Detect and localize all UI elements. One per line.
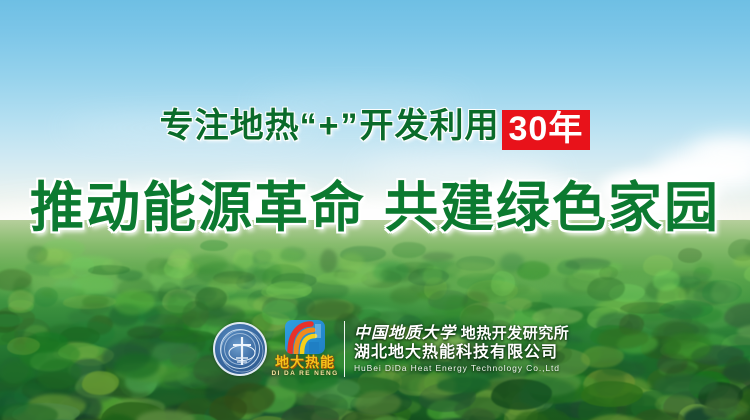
- seal-emblem-icon: [215, 324, 267, 376]
- promotional-banner: 专注地热“+”开发利用30年 推动能源革命共建绿色家园: [0, 0, 750, 420]
- company-name-block: 中国地质大学 地热开发研究所 湖北地大热能科技有限公司 HuBei DiDa H…: [354, 325, 569, 374]
- subheadline-middle: 开发利用: [360, 107, 500, 145]
- subheadline-prefix: 专注地热: [160, 107, 300, 145]
- subheadline-quote: “+”: [300, 107, 360, 145]
- dida-logo-cn: 地大热能: [275, 355, 335, 370]
- lockup-divider: [344, 321, 345, 377]
- anniversary-badge: 30年: [502, 110, 591, 150]
- institute-line: 中国地质大学 地热开发研究所: [354, 325, 569, 342]
- dida-brand-logo: 地大热能 DI DA RE NENG: [273, 320, 337, 378]
- company-name-cn: 湖北地大热能科技有限公司: [354, 345, 569, 362]
- university-seal-icon: [213, 322, 267, 376]
- main-headline-left: 推动能源革命: [30, 178, 366, 238]
- company-name-en: HuBei DiDa Heat Energy Technology Co.,Lt…: [354, 364, 569, 373]
- dida-logo-en: DI DA RE NENG: [271, 370, 338, 377]
- institute-calligraphy: 中国地质大学: [354, 323, 456, 342]
- main-headline: 推动能源革命共建绿色家园: [0, 163, 750, 242]
- subheadline: 专注地热“+”开发利用30年: [0, 98, 750, 150]
- institute-suffix: 地热开发研究所: [461, 325, 570, 342]
- dida-logo-mark-icon: [285, 320, 325, 354]
- main-headline-right: 共建绿色家园: [384, 178, 720, 238]
- rainbow-arc-icon: [285, 320, 325, 354]
- brand-lockup: 地大热能 DI DA RE NENG 中国地质大学 地热开发研究所 湖北地大热能…: [213, 316, 543, 382]
